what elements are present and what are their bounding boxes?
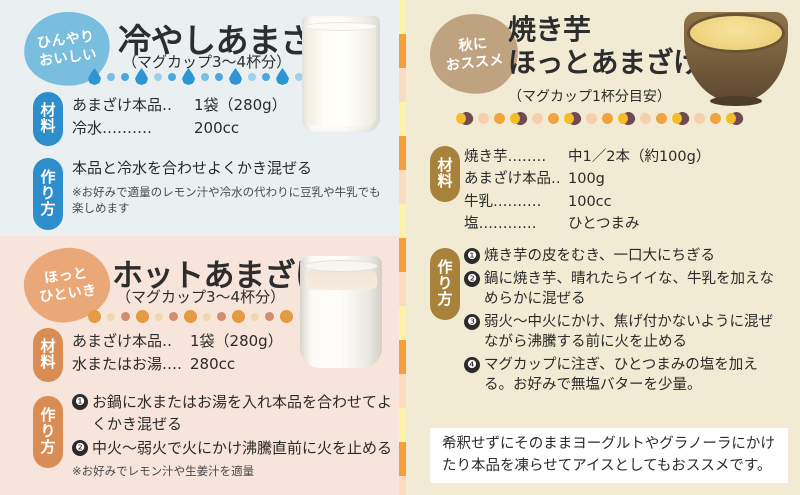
ingredient-name: あまざけ本品‥ — [72, 330, 190, 353]
dot-icon — [168, 73, 176, 81]
dot-icon — [251, 313, 259, 321]
ingredient-value: 1袋（280g） — [190, 330, 283, 353]
dot-icon — [710, 113, 721, 124]
water-drop-icon — [276, 68, 289, 85]
ingredient-row: あまざけ本品‥ 100g — [464, 168, 710, 190]
label-char: 料 — [40, 355, 55, 371]
badge-yaki-line1: 秋に — [458, 36, 489, 55]
photo-glass-of-amazake — [302, 16, 380, 132]
dot-icon — [184, 310, 197, 323]
dot-icon — [494, 113, 505, 124]
dot-icon — [656, 113, 667, 124]
dot-icon — [154, 73, 162, 81]
dot-icon — [586, 113, 597, 124]
ingredients-list-hot: あまざけ本品‥ 1袋（280g） 水またはお湯‥‥ 280cc — [72, 330, 283, 377]
recipe-card: ひんやり おいしい 冷やしあまざけ （マグカップ3～4杯分） 材 料 — [0, 0, 800, 495]
method-step: ❷ 鍋に焼き芋、晴れたらイイな、牛乳を加えなめらかに混ぜる — [464, 269, 786, 310]
method-list-hot: ❶ お鍋に水またはお湯を入れ本品を合わせてよくかき混ぜる ❷ 中火～弱火で火にか… — [72, 392, 392, 480]
ingredient-value: 280cc — [190, 353, 235, 376]
dot-icon — [694, 113, 705, 124]
method-step: ❷ 中火～弱火で火にかけ沸騰直前に火を止める — [72, 438, 392, 460]
sweet-potato-icon — [672, 112, 689, 125]
dot-icon — [217, 312, 226, 321]
dot-icon — [248, 73, 256, 81]
method-lead: 本品と冷水を合わせよくかき混ぜる — [72, 158, 384, 180]
ingredient-name: 牛乳‥‥‥‥‥ — [464, 191, 568, 213]
water-drop-icon — [229, 68, 242, 85]
subtitle-hot-amazake: （マグカップ3～4杯分） — [116, 286, 285, 307]
label-char: 料 — [40, 119, 55, 135]
ingredient-name: 水またはお湯‥‥ — [72, 353, 190, 376]
sweet-potato-icon — [510, 112, 527, 125]
ingredient-name: 冷水‥‥‥‥‥ — [72, 117, 194, 140]
sweet-potato-icon — [618, 112, 635, 125]
step-text: 鍋に焼き芋、晴れたらイイな、牛乳を加えなめらかに混ぜる — [484, 269, 786, 310]
step-text: お鍋に水またはお湯を入れ本品を合わせてよくかき混ぜる — [92, 392, 392, 436]
dot-icon — [121, 312, 130, 321]
ingredient-row: 焼き芋‥‥‥‥ 中1／2本（約100g） — [464, 146, 710, 168]
dot-icon — [169, 312, 178, 321]
ingredients-list-yakiimo: 焼き芋‥‥‥‥ 中1／2本（約100g） あまざけ本品‥ 100g 牛乳‥‥‥‥… — [464, 146, 710, 236]
method-note: ※お好みでレモン汁や生姜汁を適量 — [72, 463, 392, 480]
dot-icon — [262, 73, 270, 81]
ingredient-row: 冷水‥‥‥‥‥ 200cc — [72, 117, 287, 140]
dot-icon — [265, 312, 274, 321]
dot-icon — [155, 313, 163, 321]
method-step: ❹ マグカップに注ぎ、ひとつまみの塩を加える。お好みで無塩バターを少量。 — [464, 355, 786, 396]
method-step: ❶ お鍋に水またはお湯を入れ本品を合わせてよくかき混ぜる — [72, 392, 392, 436]
ingredient-name: あまざけ本品‥ — [72, 94, 194, 117]
dot-icon — [640, 113, 651, 124]
step-text: マグカップに注ぎ、ひとつまみの塩を加える。お好みで無塩バターを少量。 — [484, 355, 786, 396]
ingredients-list-cold: あまざけ本品‥ 1袋（280g） 冷水‥‥‥‥‥ 200cc — [72, 94, 287, 141]
ingredient-value: 中1／2本（約100g） — [568, 146, 710, 168]
label-method-cold: 作 り 方 — [33, 158, 63, 230]
method-list-cold: 本品と冷水を合わせよくかき混ぜる ※お好みで適量のレモン汁や冷水の代わりに豆乳や… — [72, 158, 384, 217]
step-number: ❸ — [464, 314, 480, 330]
step-number: ❷ — [72, 440, 88, 456]
step-number: ❶ — [464, 248, 480, 264]
dot-icon — [107, 313, 115, 321]
step-text: 弱火～中火にかけ、焦げ付かないように混ぜながら沸騰する前に火を止める — [484, 312, 786, 353]
ingredient-name: 塩‥‥‥‥‥‥ — [464, 213, 568, 235]
method-list-yakiimo: ❶ 焼き芋の皮をむき、一口大にちぎる ❷ 鍋に焼き芋、晴れたらイイな、牛乳を加え… — [464, 246, 786, 398]
dot-icon — [88, 310, 101, 323]
dot-icon — [215, 73, 223, 81]
water-drop-row — [88, 68, 336, 85]
photo-mug-of-amazake — [300, 256, 382, 368]
step-number: ❶ — [72, 394, 88, 410]
dot-icon — [203, 313, 211, 321]
dot-icon — [107, 73, 115, 81]
method-step: ❶ 焼き芋の皮をむき、一口大にちぎる — [464, 246, 786, 267]
sweet-potato-icon — [726, 112, 743, 125]
ingredient-row: 牛乳‥‥‥‥‥ 100cc — [464, 191, 710, 213]
label-char: 方 — [40, 440, 55, 456]
title-yakiimo-amazake: 焼き芋 ほっとあまざけ — [508, 14, 701, 80]
ingredient-value: 100g — [568, 168, 605, 190]
title-line1: 焼き芋 — [508, 14, 701, 47]
ingredient-value: 1袋（280g） — [194, 94, 287, 117]
step-number: ❹ — [464, 357, 480, 373]
water-drop-icon — [88, 68, 101, 85]
footer-note-text: 希釈せずにそのままヨーグルトやグラノーラにかけたり本品を凍らせてアイスとしてもお… — [430, 434, 788, 478]
label-ingredients-cold: 材 料 — [33, 92, 63, 146]
dot-icon — [232, 310, 245, 323]
dot-icon — [280, 310, 293, 323]
ingredient-row: あまざけ本品‥ 1袋（280g） — [72, 330, 283, 353]
dot-icon — [121, 73, 129, 81]
step-number: ❷ — [464, 271, 480, 287]
dot-icon — [478, 113, 489, 124]
method-note: ※お好みで適量のレモン汁や冷水の代わりに豆乳や牛乳でも楽しめます — [72, 184, 384, 217]
sweet-potato-icon — [564, 112, 581, 125]
dot-icon — [136, 310, 149, 323]
subtitle-yakiimo-amazake: （マグカップ1杯分目安） — [508, 86, 671, 106]
divider-vertical — [399, 0, 406, 495]
method-step: ❸ 弱火～中火にかけ、焦げ付かないように混ぜながら沸騰する前に火を止める — [464, 312, 786, 353]
ingredient-row: 塩‥‥‥‥‥‥ ひとつまみ — [464, 213, 710, 235]
ingredient-name: あまざけ本品‥ — [464, 168, 568, 190]
sweet-potato-row — [456, 112, 743, 125]
label-method-yakiimo: 作 り 方 — [430, 248, 460, 320]
badge-yaki-line2: おススメ — [445, 51, 504, 73]
ingredient-row: あまざけ本品‥ 1袋（280g） — [72, 94, 287, 117]
label-char: 料 — [437, 174, 452, 190]
ingredient-value: ひとつまみ — [568, 213, 640, 235]
label-ingredients-hot: 材 料 — [33, 328, 63, 382]
footer-note-box: 希釈せずにそのままヨーグルトやグラノーラにかけたり本品を凍らせてアイスとしてもお… — [430, 428, 788, 483]
label-ingredients-yakiimo: 材 料 — [430, 146, 460, 202]
panel-cold-amazake: ひんやり おいしい 冷やしあまざけ （マグカップ3～4杯分） 材 料 — [0, 0, 402, 236]
label-char: 方 — [40, 202, 55, 218]
step-text: 中火～弱火で火にかけ沸騰直前に火を止める — [92, 438, 392, 460]
dot-icon — [548, 113, 559, 124]
water-drop-icon — [135, 68, 148, 85]
label-method-hot: 作 り 方 — [33, 396, 63, 468]
label-char: 方 — [437, 292, 452, 308]
ingredient-name: 焼き芋‥‥‥‥ — [464, 146, 568, 168]
dot-icon — [201, 73, 209, 81]
title-line2: ほっとあまざけ — [508, 47, 701, 80]
ingredient-value: 200cc — [194, 117, 239, 140]
sweet-potato-icon — [456, 112, 473, 125]
dot-icon — [532, 113, 543, 124]
water-drop-icon — [182, 68, 195, 85]
ingredient-value: 100cc — [568, 191, 612, 213]
step-text: 焼き芋の皮をむき、一口大にちぎる — [484, 246, 786, 267]
dot-icon — [602, 113, 613, 124]
ingredient-row: 水またはお湯‥‥ 280cc — [72, 353, 283, 376]
